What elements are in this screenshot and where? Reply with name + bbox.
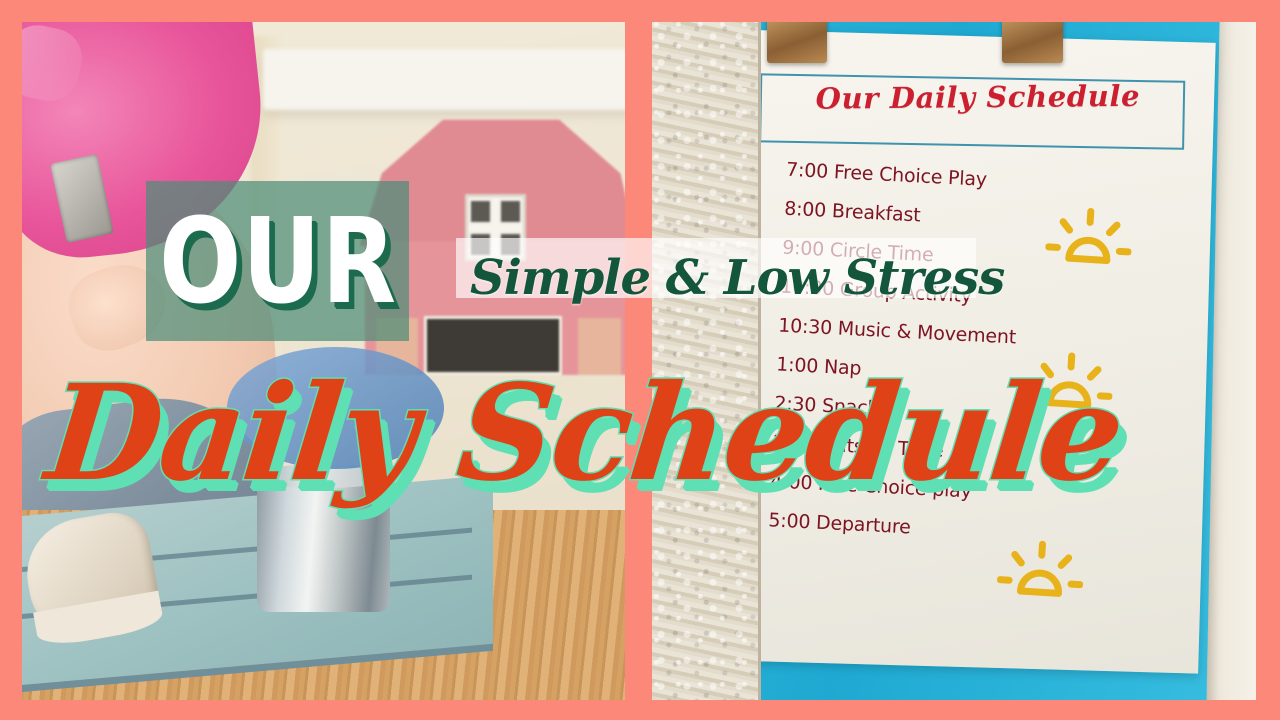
clipboard-clip: [767, 22, 827, 63]
schedule-paper: Our Daily Schedule 7:00 Free Choice Play…: [716, 29, 1217, 673]
clipboard-clip: [1002, 22, 1062, 63]
barn-window-pane: [501, 201, 520, 222]
sunrise-icon: [1045, 200, 1135, 269]
page-title: Daily Schedule: [41, 368, 1128, 500]
video-thumbnail: Our Daily Schedule 7:00 Free Choice Play…: [0, 0, 1280, 720]
white-shelf: [263, 49, 625, 110]
sunrise-icon: [997, 533, 1087, 602]
barn-window-pane: [471, 201, 490, 222]
schedule-row: 5:00 Departure: [769, 509, 1147, 550]
sheet-title: Our Daily Schedule: [770, 78, 1186, 116]
shirt-fold: [22, 22, 87, 107]
tagline-text: Simple & Low Stress: [470, 250, 1004, 306]
kicker-text: OUR: [159, 208, 397, 314]
schedule-row: 7:00 Free Choice Play: [786, 159, 1164, 200]
kicker-badge: OUR: [146, 181, 409, 341]
